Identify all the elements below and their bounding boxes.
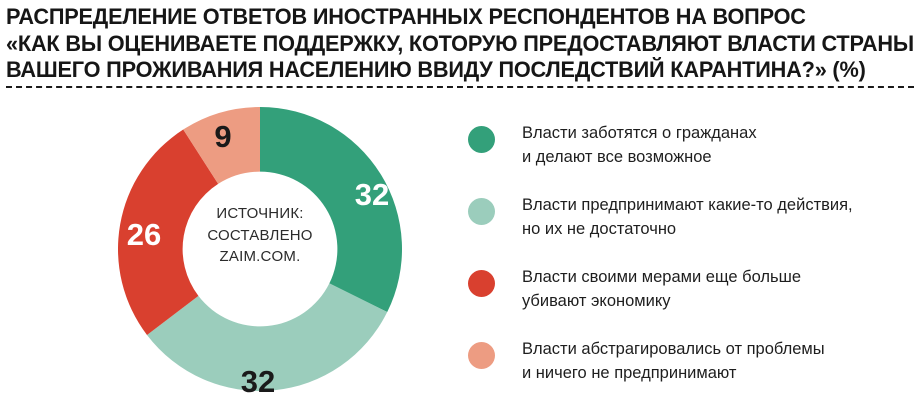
legend-label-2-line-2: убивают экономику [522,290,914,314]
legend-label-3: Власти абстрагировались от проблемы и ни… [522,338,914,385]
legend-item-1[interactable]: Власти предпринимают какие-то действия, … [468,194,914,241]
source-note: ИСТОЧНИК: СОСТАВЛЕНО ZAIM.COM. [158,203,362,268]
legend-label-1-line-2: но их не достаточно [522,218,914,242]
title-line-1: РАСПРЕДЕЛЕНИЕ ОТВЕТОВ ИНОСТРАННЫХ РЕСПОН… [6,4,882,31]
legend-label-2-line-1: Власти своими мерами еще больше [522,266,914,290]
chart-title: РАСПРЕДЕЛЕНИЕ ОТВЕТОВ ИНОСТРАННЫХ РЕСПОН… [6,4,914,84]
source-note-line-1: ИСТОЧНИК: [158,203,362,225]
legend-label-2: Власти своими мерами еще больше убивают … [522,266,914,313]
legend-item-0[interactable]: Власти заботятся о гражданах и делают вс… [468,122,914,169]
legend-item-3[interactable]: Власти абстрагировались от проблемы и ни… [468,338,914,385]
legend-label-3-line-1: Власти абстрагировались от проблемы [522,338,914,362]
legend-label-0-line-2: и делают все возможное [522,146,914,170]
legend-swatch-icon-1 [468,198,495,225]
title-divider [6,86,914,88]
legend-label-3-line-2: и ничего не предпринимают [522,362,914,386]
source-note-line-2: СОСТАВЛЕНО [158,225,362,247]
slice-label-salmon: 9 [203,121,243,152]
legend-label-0-line-1: Власти заботятся о гражданах [522,122,914,146]
donut-chart: 32 32 26 9 ИСТОЧНИК: СОСТАВЛЕНО ZAIM.COM… [118,107,402,391]
slice-label-light-green: 32 [230,366,286,397]
legend-label-1-line-1: Власти предпринимают какие-то действия, [522,194,914,218]
legend-swatch-icon-2 [468,270,495,297]
title-line-3: ВАШЕГО ПРОЖИВАНИЯ НАСЕЛЕНИЮ ВВИДУ ПОСЛЕД… [6,57,882,84]
legend-swatch-icon-0 [468,126,495,153]
legend-label-0: Власти заботятся о гражданах и делают вс… [522,122,914,169]
legend-label-1: Власти предпринимают какие-то действия, … [522,194,914,241]
chart-legend: Власти заботятся о гражданах и делают вс… [468,122,914,385]
source-note-line-3: ZAIM.COM. [158,246,362,268]
legend-swatch-icon-3 [468,342,495,369]
legend-item-2[interactable]: Власти своими мерами еще больше убивают … [468,266,914,313]
title-line-2: «КАК ВЫ ОЦЕНИВАЕТЕ ПОДДЕРЖКУ, КОТОРУЮ ПР… [6,31,882,58]
